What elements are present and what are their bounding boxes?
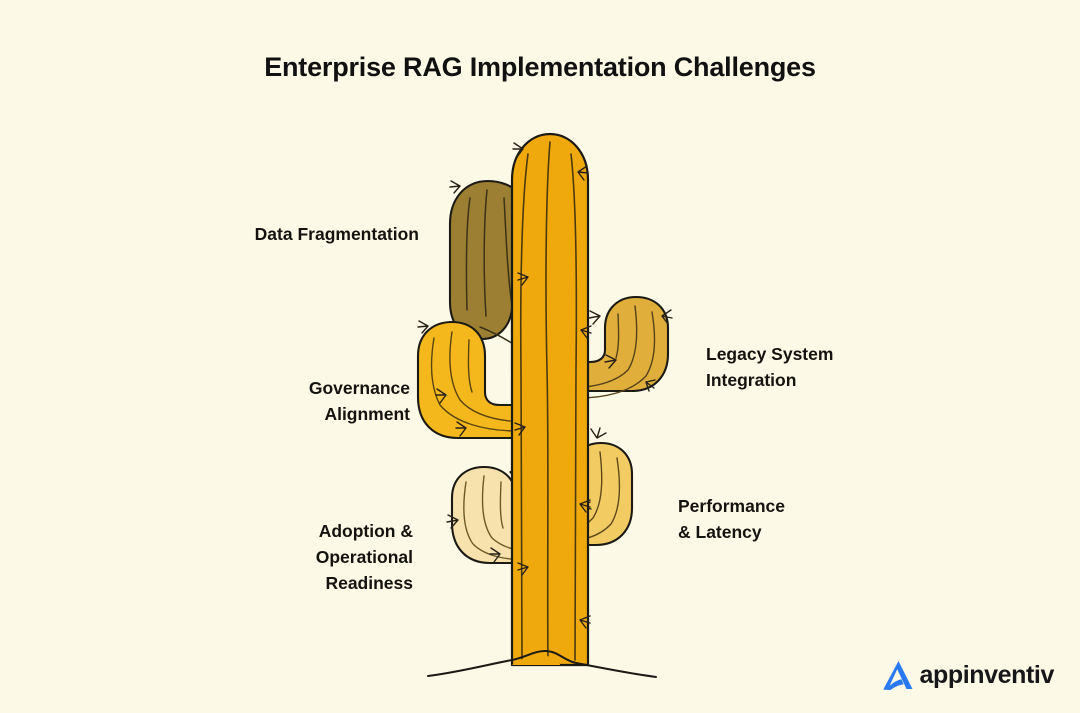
appinventiv-logo: appinventiv: [881, 659, 1054, 691]
appinventiv-logo-mark: [881, 659, 915, 691]
label-data-fragmentation: Data Fragmentation: [255, 222, 419, 248]
infographic-canvas: Enterprise RAG Implementation Challenges: [0, 0, 1080, 713]
cactus-trunk: [512, 134, 591, 665]
label-governance-alignment: Governance Alignment: [309, 376, 410, 428]
label-adoption-operational-readiness: Adoption & Operational Readiness: [316, 519, 413, 597]
label-performance-latency: Performance & Latency: [678, 494, 785, 546]
ground-line: [428, 651, 656, 677]
page-title: Enterprise RAG Implementation Challenges: [0, 52, 1080, 83]
cactus-illustration: [400, 120, 700, 680]
appinventiv-logo-text: appinventiv: [919, 663, 1054, 688]
label-legacy-system-integration: Legacy System Integration: [706, 342, 833, 394]
